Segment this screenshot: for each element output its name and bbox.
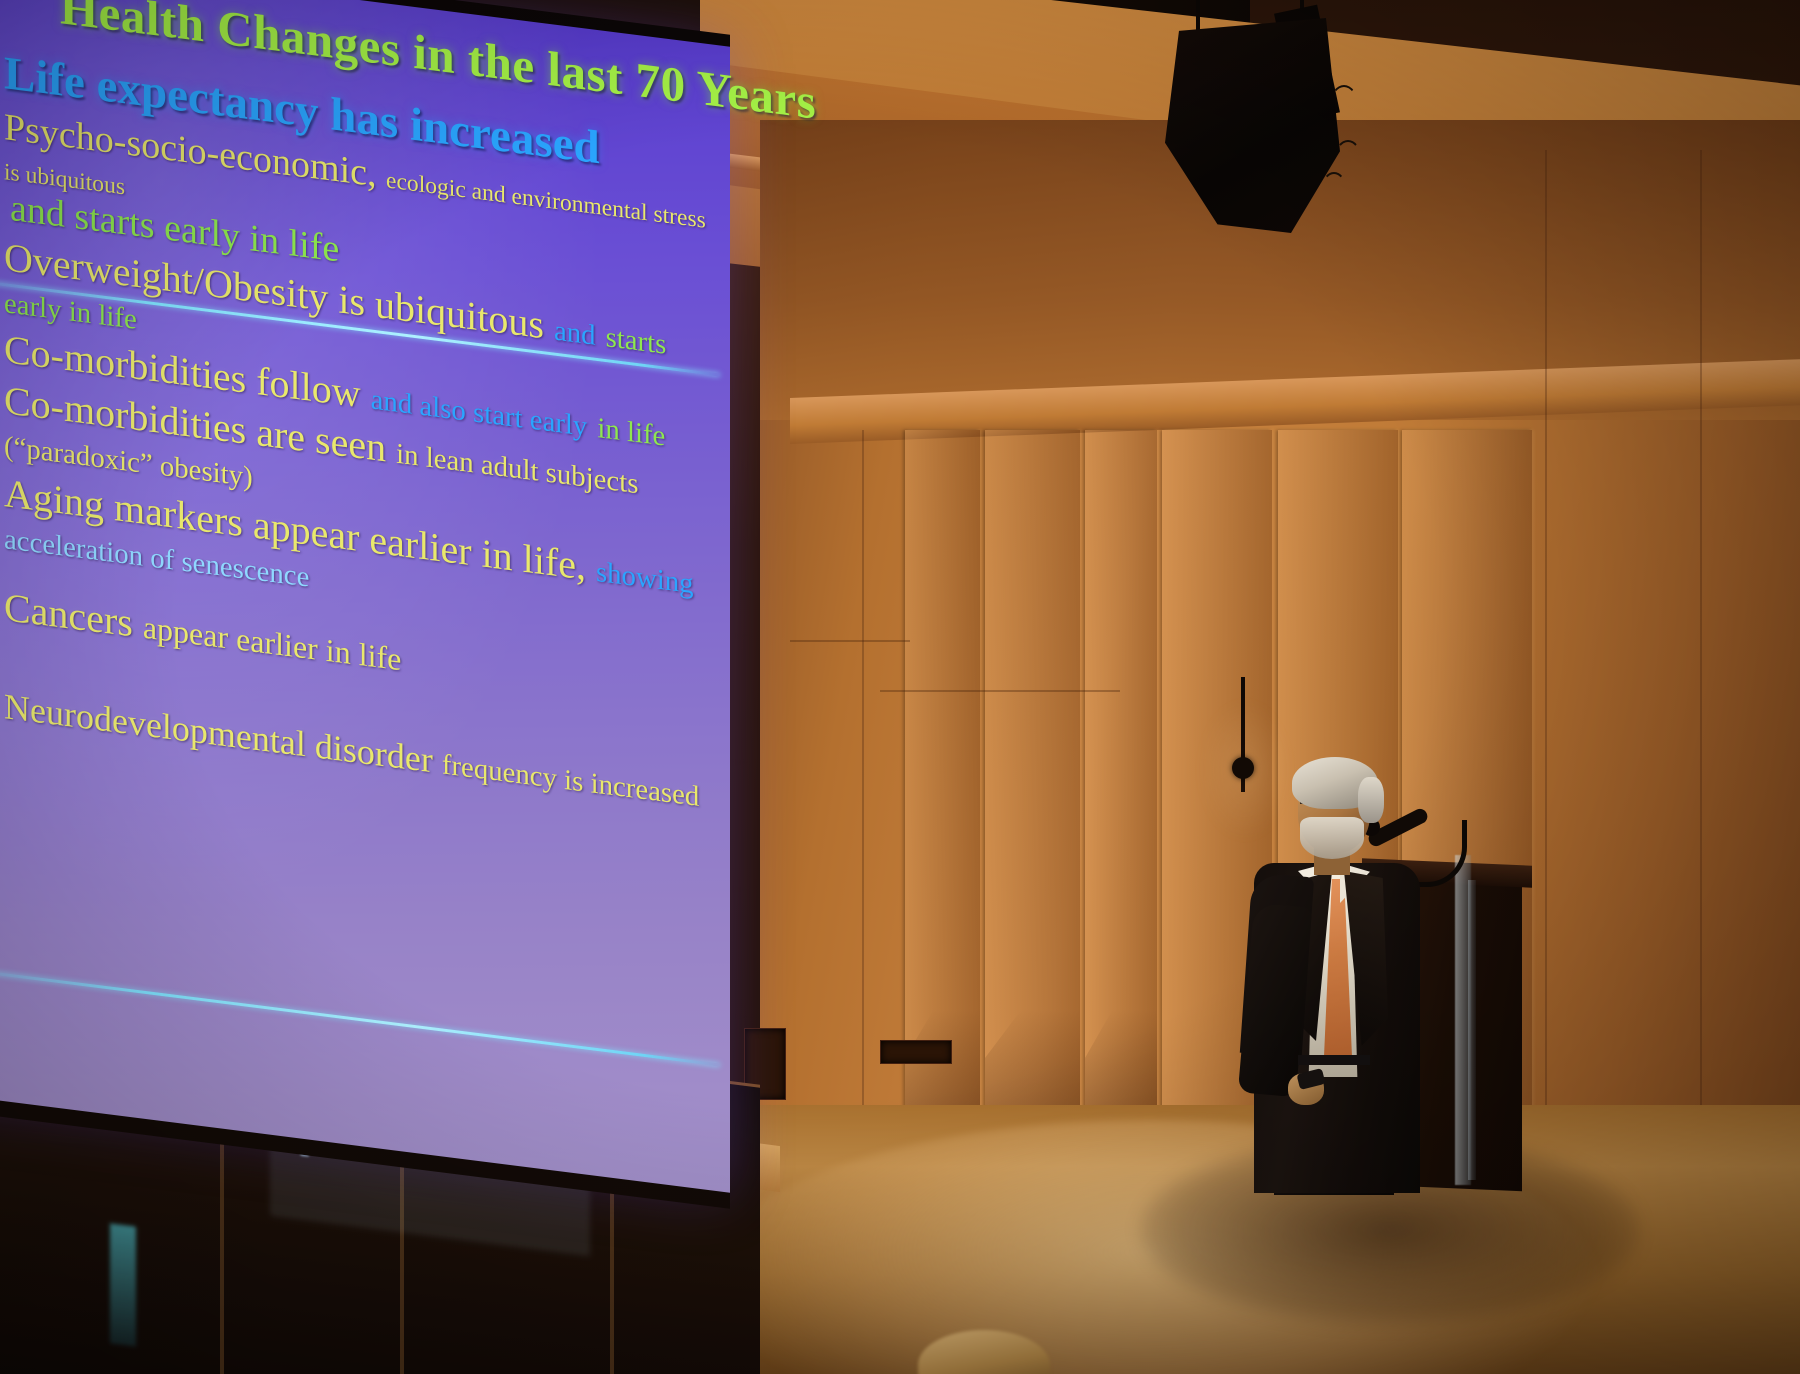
panel-seam-a [790, 640, 910, 642]
lectern-edge-highlight-2 [1468, 880, 1476, 1180]
speaker-cable-3 [1322, 172, 1346, 202]
wall-vent-center [880, 1040, 952, 1064]
glass-teal-reflection [110, 1223, 136, 1346]
lecture-photo-scene: Health Changes in the last 70 Years Life… [0, 0, 1800, 1374]
wall-panel-rib-3 [1085, 430, 1157, 1130]
presenter-hair-side [1358, 777, 1384, 823]
bullet-part-text: and [554, 314, 596, 351]
speaker-cable-2 [1335, 140, 1361, 174]
wall-panel-rib-2 [985, 430, 1080, 1130]
presenter-belt [1298, 1055, 1370, 1065]
slide-bullet-list: Life expectancy has increased Psycho-soc… [0, 42, 720, 823]
bullet-part-text: showing [596, 555, 694, 599]
bullet-part-text: Cancers [4, 584, 133, 645]
bullet-part-text: in life [597, 412, 665, 453]
presenter-beard [1300, 817, 1364, 859]
panel-vseam-b [1545, 150, 1547, 1130]
bullet-part-text: appear earlier in life [143, 609, 402, 678]
speaker-cable-1 [1330, 85, 1358, 123]
presenter [1240, 755, 1420, 1185]
projection-screen: Health Changes in the last 70 Years Life… [0, 0, 730, 1195]
panel-vseam-c [1700, 150, 1702, 1130]
panel-vseam-a [862, 430, 864, 1130]
panel-seam-b [880, 690, 1120, 692]
wall-panel-rib-1 [905, 430, 980, 1130]
